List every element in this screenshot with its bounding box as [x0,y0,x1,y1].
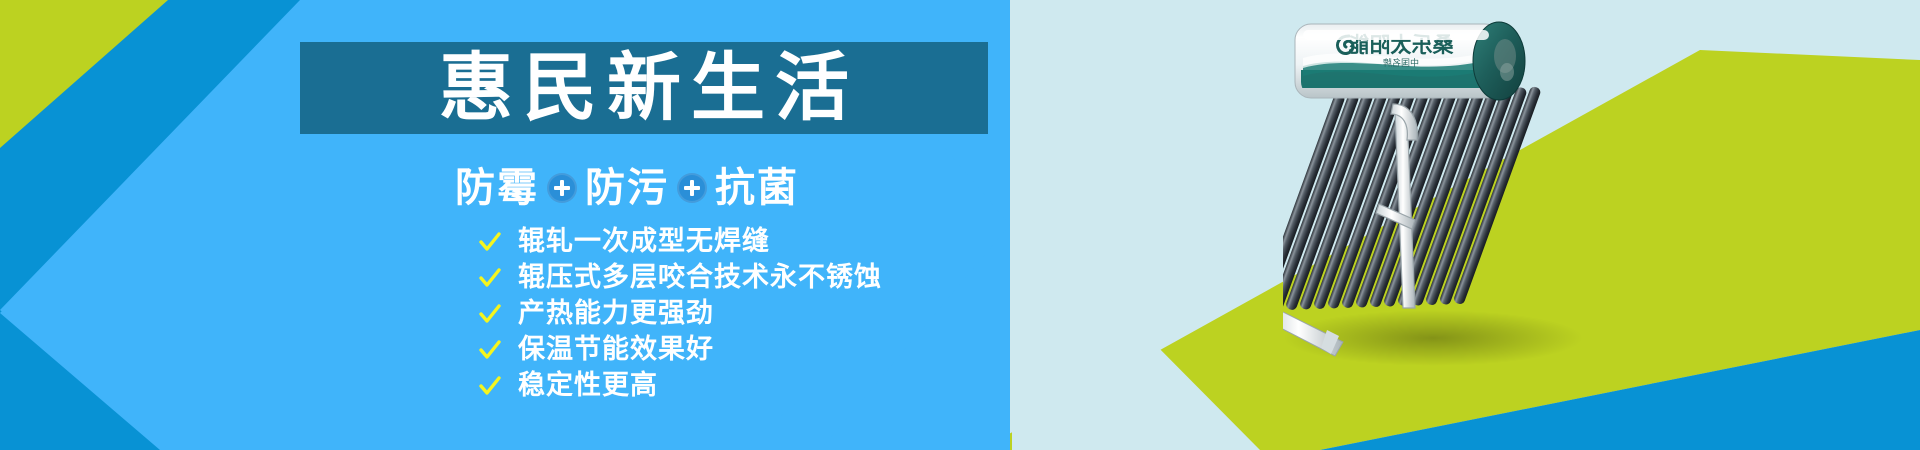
subtitle-row: 防霉 防污 抗菌 [455,168,799,208]
banner-copy: 惠民新生活 防霉 防污 抗菌 辊轧一次成型无焊缝 辊压式多层咬合技术永不锈蚀 [0,0,1000,450]
evacuated-tube-array [1283,85,1549,312]
check-icon [478,302,502,326]
check-icon [478,266,502,290]
water-tank: 桑乐太阳能 中国名牌 [1295,22,1525,100]
subtitle-word-1: 防霉 [455,168,539,208]
check-icon [478,374,502,398]
list-item-label: 稳定性更高 [518,372,658,399]
subtitle-word-3: 抗菌 [715,168,799,208]
list-item: 辊轧一次成型无焊缝 [478,228,882,255]
list-item: 产热能力更强劲 [478,300,882,327]
headline-box: 惠民新生活 [300,42,988,134]
list-item-label: 产热能力更强劲 [518,300,714,327]
list-item: 保温节能效果好 [478,336,882,363]
subtitle-word-2: 防污 [585,168,669,208]
check-icon [478,338,502,362]
list-item: 稳定性更高 [478,372,882,399]
list-item-label: 保温节能效果好 [518,336,714,363]
promo-banner: 桑乐太阳能 中国名牌 惠民新生活 防霉 防污 抗菌 [0,0,1920,450]
solar-water-heater-product: 桑乐太阳能 中国名牌 [1283,8,1633,368]
tank-sub-text: 中国名牌 [1383,57,1419,69]
list-item-label: 辊压式多层咬合技术永不锈蚀 [518,264,882,291]
list-item: 辊压式多层咬合技术永不锈蚀 [478,264,882,291]
plus-circle-icon [547,173,577,203]
page-title: 惠民新生活 [429,51,859,125]
list-item-label: 辊轧一次成型无焊缝 [518,228,770,255]
check-icon [478,230,502,254]
feature-list: 辊轧一次成型无焊缝 辊压式多层咬合技术永不锈蚀 产热能力更强劲 保温节能效果好 [478,228,882,399]
plus-circle-icon [677,173,707,203]
